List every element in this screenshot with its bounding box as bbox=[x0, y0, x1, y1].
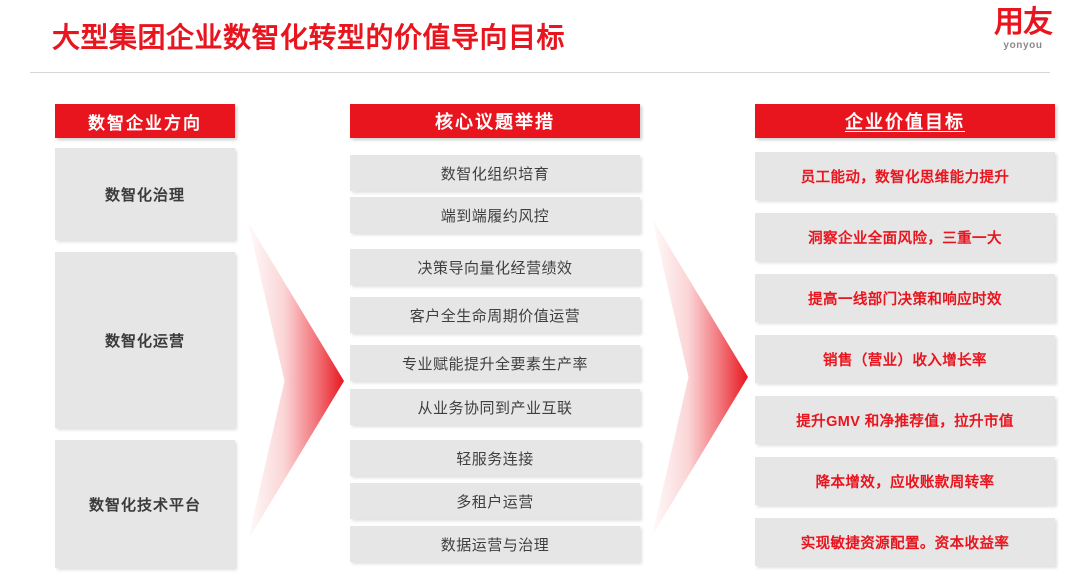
chevron-arrow-icon-1 bbox=[248, 222, 344, 540]
brand-logo: 用友 yonyou bbox=[988, 8, 1058, 51]
initiative-item-6[interactable]: 从业务协同到产业互联 bbox=[350, 389, 640, 425]
brand-logo-en: yonyou bbox=[988, 41, 1058, 51]
initiative-item-7[interactable]: 轻服务连接 bbox=[350, 440, 640, 476]
initiative-item-2[interactable]: 端到端履约风控 bbox=[350, 197, 640, 233]
initiative-item-5[interactable]: 专业赋能提升全要素生产率 bbox=[350, 345, 640, 381]
value-goal-item-6[interactable]: 降本增效，应收账款周转率 bbox=[755, 457, 1055, 505]
header-divider bbox=[30, 72, 1050, 73]
column-header-direction: 数智企业方向 bbox=[55, 104, 235, 138]
value-goal-item-3[interactable]: 提高一线部门决策和响应时效 bbox=[755, 274, 1055, 322]
column-header-initiatives: 核心议题举措 bbox=[350, 104, 640, 138]
column-header-value-goals: 企业价值目标 bbox=[755, 104, 1055, 138]
direction-item-3[interactable]: 数智化技术平台 bbox=[55, 440, 235, 568]
slide-canvas: 大型集团企业数智化转型的价值导向目标 用友 yonyou 数智企业方向 数智化治… bbox=[0, 0, 1080, 586]
initiative-item-8[interactable]: 多租户运营 bbox=[350, 483, 640, 519]
chevron-arrow-icon-2 bbox=[652, 218, 748, 536]
value-goal-item-4[interactable]: 销售（营业）收入增长率 bbox=[755, 335, 1055, 383]
initiative-item-3[interactable]: 决策导向量化经营绩效 bbox=[350, 249, 640, 285]
value-goal-item-1[interactable]: 员工能动，数智化思维能力提升 bbox=[755, 152, 1055, 200]
brand-logo-cn: 用友 bbox=[988, 8, 1058, 38]
initiative-item-1[interactable]: 数智化组织培育 bbox=[350, 155, 640, 191]
value-goal-item-2[interactable]: 洞察企业全面风险，三重一大 bbox=[755, 213, 1055, 261]
value-goal-item-5[interactable]: 提升GMV 和净推荐值，拉升市值 bbox=[755, 396, 1055, 444]
direction-item-2[interactable]: 数智化运营 bbox=[55, 252, 235, 428]
value-goal-item-7[interactable]: 实现敏捷资源配置。资本收益率 bbox=[755, 518, 1055, 566]
direction-item-1[interactable]: 数智化治理 bbox=[55, 148, 235, 240]
initiative-item-4[interactable]: 客户全生命周期价值运营 bbox=[350, 297, 640, 333]
page-title: 大型集团企业数智化转型的价值导向目标 bbox=[52, 16, 565, 56]
initiative-item-9[interactable]: 数据运营与治理 bbox=[350, 526, 640, 562]
